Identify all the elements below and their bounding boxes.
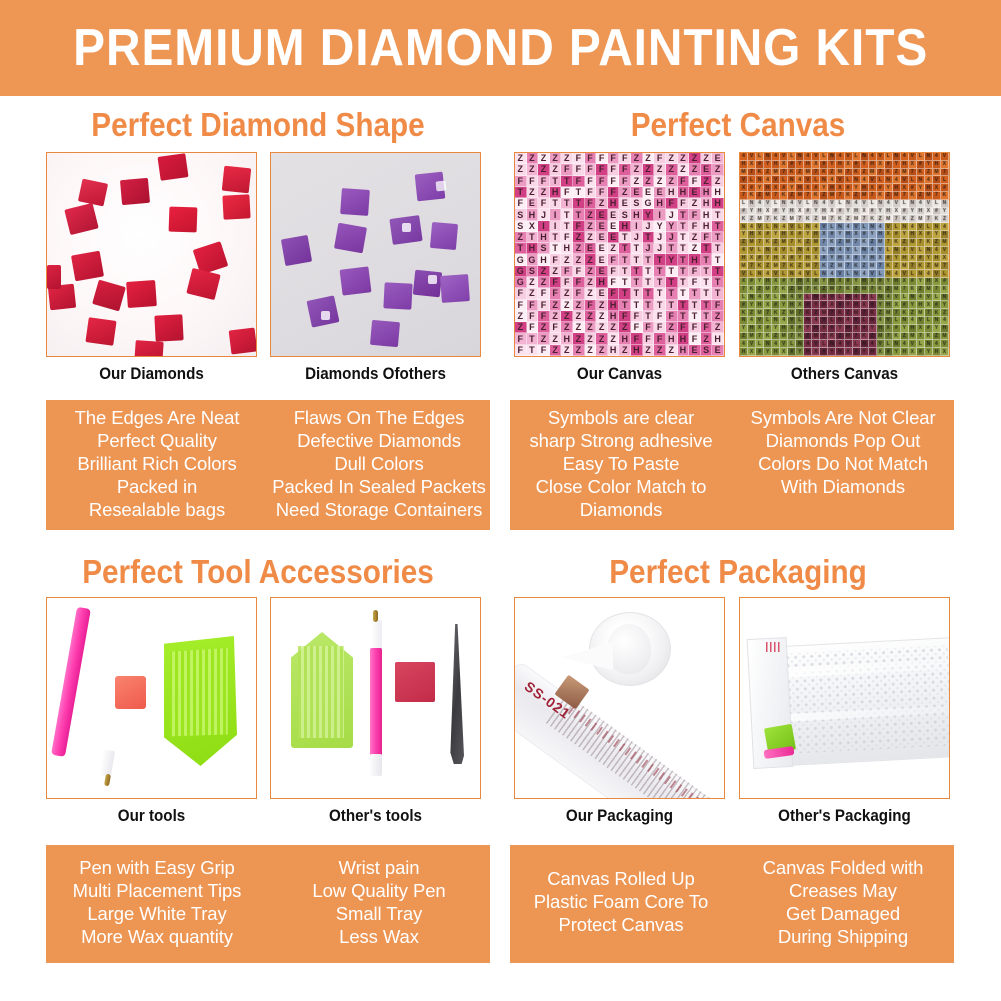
canvas-symbol-cell: Y <box>853 184 861 192</box>
canvas-symbol-cell: X <box>788 231 796 239</box>
canvas-symbol-cell: M <box>820 309 828 317</box>
canvas-symbol-cell: 4 <box>917 200 925 208</box>
canvas-symbol-cell: N <box>869 223 877 231</box>
canvas-symbol-cell: Z <box>796 169 804 177</box>
canvas-symbol-cell: Z <box>869 333 877 341</box>
canvas-symbol-cell: G <box>515 266 527 277</box>
canvas-symbol-cell: Y <box>764 255 772 263</box>
canvas-symbol-cell: H <box>893 278 901 286</box>
canvas-symbol-cell: V <box>925 294 933 302</box>
canvas-symbol-cell: F <box>550 288 562 299</box>
canvas-symbol-cell: M <box>820 215 828 223</box>
canvas-symbol-cell: Z <box>689 198 701 209</box>
canvas-symbol-cell: F <box>515 333 527 344</box>
caption-our-canvas: Our Canvas <box>522 365 716 384</box>
canvas-symbol-cell: Z <box>853 192 861 200</box>
canvas-symbol-cell: H <box>885 208 893 216</box>
canvas-symbol-cell: 7 <box>877 169 885 177</box>
canvas-symbol-cell: K <box>941 192 949 200</box>
canvas-symbol-cell: 7 <box>917 333 925 341</box>
canvas-symbol-cell: Y <box>836 231 844 239</box>
canvas-symbol-cell: V <box>917 317 925 325</box>
caption-our-packaging: Our Packaging <box>522 807 716 826</box>
photo-our-packaging: SS-021 <box>514 597 725 799</box>
canvas-symbol-cell: S <box>527 266 539 277</box>
canvas-symbol-cell: V <box>853 317 861 325</box>
other-tools-art <box>271 598 480 798</box>
canvas-symbol-cell: S <box>515 221 527 232</box>
canvas-symbol-cell: Y <box>917 184 925 192</box>
canvas-symbol-cell: V <box>885 317 893 325</box>
canvas-symbol-cell: F <box>689 209 701 220</box>
canvas-symbol-cell: Z <box>712 322 724 333</box>
canvas-symbol-cell: Y <box>893 348 901 356</box>
canvas-symbol-cell: V <box>820 223 828 231</box>
canvas-symbol-cell: M <box>925 192 933 200</box>
canvas-symbol-cell: K <box>748 286 756 294</box>
canvas-symbol-cell: M <box>740 262 748 270</box>
canvas-symbol-cell: K <box>772 215 780 223</box>
canvas-symbol-cell: Z <box>788 286 796 294</box>
canvas-symbol-cell: M <box>772 262 780 270</box>
canvas-symbol-cell: K <box>764 333 772 341</box>
canvas-symbol-cell: F <box>585 176 597 187</box>
canvas-symbol-cell: 7 <box>788 239 796 247</box>
panel-line: Wrist pain <box>339 856 420 879</box>
canvas-symbol-cell: Z <box>820 286 828 294</box>
canvas-symbol-cell: X <box>812 161 820 169</box>
canvas-symbol-cell: F <box>689 221 701 232</box>
canvas-symbol-cell: F <box>643 333 655 344</box>
canvas-symbol-cell: Y <box>933 325 941 333</box>
canvas-symbol-cell: T <box>654 254 666 265</box>
canvas-symbol-cell: Z <box>585 266 597 277</box>
canvas-symbol-cell: 4 <box>820 200 828 208</box>
canvas-symbol-cell: 7 <box>812 262 820 270</box>
canvas-symbol-cell: F <box>619 164 631 175</box>
canvas-symbol-cell: T <box>550 243 562 254</box>
canvas-symbol-cell: 4 <box>812 223 820 231</box>
canvas-symbol-cell: 7 <box>764 215 772 223</box>
canvas-symbol-cell: L <box>804 200 812 208</box>
canvas-symbol-cell: X <box>869 184 877 192</box>
canvas-symbol-cell: F <box>515 288 527 299</box>
canvas-symbol-cell: Y <box>941 208 949 216</box>
canvas-symbol-cell: # <box>756 161 764 169</box>
canvas-symbol-cell: H <box>901 348 909 356</box>
canvas-symbol-cell: Y <box>869 325 877 333</box>
canvas-symbol-cell: T <box>643 311 655 322</box>
canvas-symbol-cell: F <box>619 153 631 164</box>
canvas-symbol-cell: Z <box>689 232 701 243</box>
canvas-symbol-cell: T <box>689 300 701 311</box>
canvas-symbol-cell: V <box>772 270 780 278</box>
canvas-symbol-cell: T <box>643 288 655 299</box>
panel-canvas-ours: Symbols are clear sharp Strong adhesive … <box>510 400 732 530</box>
canvas-symbol-cell: Z <box>538 322 550 333</box>
canvas-symbol-cell: K <box>788 169 796 177</box>
canvas-symbol-cell: L <box>885 153 893 161</box>
canvas-symbol-cell: V <box>869 176 877 184</box>
canvas-symbol-cell: # <box>893 231 901 239</box>
canvas-symbol-cell: Y <box>796 255 804 263</box>
canvas-symbol-cell: N <box>861 340 869 348</box>
bubble-mailer-art <box>740 598 949 798</box>
canvas-symbol-cell: V <box>756 317 764 325</box>
canvas-symbol-cell: Z <box>712 176 724 187</box>
canvas-symbol-cell: 4 <box>861 270 869 278</box>
canvas-symbol-cell: # <box>820 255 828 263</box>
canvas-symbol-cell: V <box>893 294 901 302</box>
canvas-symbol-cell: N <box>853 176 861 184</box>
canvas-symbol-cell: X <box>909 255 917 263</box>
canvas-symbol-cell: 4 <box>941 223 949 231</box>
canvas-symbol-cell: F <box>515 176 527 187</box>
canvas-symbol-cell: T <box>619 254 631 265</box>
canvas-symbol-cell: T <box>678 277 690 288</box>
canvas-symbol-cell: F <box>561 277 573 288</box>
canvas-symbol-cell: Z <box>780 309 788 317</box>
canvas-symbol-cell: N <box>925 340 933 348</box>
canvas-symbol-cell: F <box>538 300 550 311</box>
canvas-symbol-cell: 4 <box>772 340 780 348</box>
canvas-symbol-cell: Y <box>804 325 812 333</box>
canvas-symbol-cell: Z <box>596 311 608 322</box>
canvas-symbol-cell: H <box>561 333 573 344</box>
canvas-symbol-cell: 7 <box>780 169 788 177</box>
canvas-symbol-cell: 7 <box>933 286 941 294</box>
canvas-symbol-cell: Z <box>515 311 527 322</box>
canvas-symbol-cell: G <box>527 254 539 265</box>
photo-our-canvas: ZZZZZFFFFFZZFZZZZEZZZZFFFFFFZZZZZZEZFFFT… <box>514 152 725 357</box>
canvas-symbol-cell: Z <box>796 262 804 270</box>
canvas-symbol-cell: 7 <box>877 262 885 270</box>
canvas-symbol-cell: # <box>861 231 869 239</box>
canvas-symbol-cell: Z <box>527 187 539 198</box>
canvas-symbol-cell: K <box>804 215 812 223</box>
canvas-symbol-cell: E <box>689 187 701 198</box>
canvas-symbol-cell: 4 <box>788 200 796 208</box>
canvas-symbol-cell: # <box>788 161 796 169</box>
canvas-symbol-cell: N <box>909 294 917 302</box>
canvas-symbol-cell: Z <box>869 239 877 247</box>
canvas-symbol-cell: Y <box>836 325 844 333</box>
panel-line: Less Wax <box>339 925 419 948</box>
rolled-tube-art: SS-021 <box>515 598 724 798</box>
canvas-symbol-cell: T <box>678 243 690 254</box>
canvas-symbol-cell: J <box>654 232 666 243</box>
canvas-symbol-cell: V <box>748 340 756 348</box>
canvas-symbol-cell: 7 <box>740 286 748 294</box>
canvas-symbol-cell: Z <box>893 169 901 177</box>
canvas-symbol-cell: L <box>780 176 788 184</box>
canvas-symbol-cell: M <box>933 169 941 177</box>
canvas-symbol-cell: V <box>901 176 909 184</box>
canvas-symbol-cell: N <box>861 247 869 255</box>
canvas-symbol-cell: Z <box>877 215 885 223</box>
canvas-symbol-cell: N <box>925 247 933 255</box>
canvas-symbol-cell: # <box>917 161 925 169</box>
canvas-symbol-cell: H <box>828 278 836 286</box>
canvas-symbol-cell: S <box>619 209 631 220</box>
canvas-symbol-cell: H <box>796 278 804 286</box>
canvas-symbol-cell: Z <box>701 176 713 187</box>
canvas-symbol-cell: 7 <box>909 169 917 177</box>
canvas-symbol-cell: Z <box>812 309 820 317</box>
canvas-symbol-cell: X <box>901 278 909 286</box>
canvas-symbol-cell: H <box>538 232 550 243</box>
canvas-symbol-cell: Z <box>515 322 527 333</box>
canvas-symbol-cell: 7 <box>893 215 901 223</box>
canvas-symbol-cell: H <box>772 348 780 356</box>
canvas-symbol-cell: # <box>869 208 877 216</box>
canvas-symbol-cell: Z <box>845 309 853 317</box>
canvas-symbol-cell: T <box>678 221 690 232</box>
canvas-symbol-cell: V <box>853 223 861 231</box>
canvas-symbol-cell: H <box>804 255 812 263</box>
canvas-symbol-cell: Z <box>608 322 620 333</box>
canvas-symbol-cell: X <box>812 348 820 356</box>
canvas-symbol-cell: M <box>804 169 812 177</box>
panel-line: Diamonds <box>580 498 663 521</box>
canvas-symbol-cell: L <box>885 247 893 255</box>
canvas-symbol-cell: X <box>828 208 836 216</box>
canvas-symbol-cell: T <box>712 266 724 277</box>
canvas-symbol-cell: # <box>772 301 780 309</box>
canvas-symbol-cell: F <box>608 254 620 265</box>
canvas-symbol-cell: L <box>828 223 836 231</box>
canvas-symbol-cell: J <box>631 232 643 243</box>
canvas-symbol-cell: Y <box>756 278 764 286</box>
canvas-symbol-cell: M <box>788 215 796 223</box>
canvas-symbol-cell: N <box>756 176 764 184</box>
canvas-symbol-cell: X <box>845 161 853 169</box>
canvas-symbol-cell: F <box>678 176 690 187</box>
canvas-symbol-cell: E <box>608 221 620 232</box>
canvas-symbol-cell: T <box>654 300 666 311</box>
canvas-symbol-cell: Z <box>538 333 550 344</box>
canvas-symbol-cell: L <box>853 247 861 255</box>
canvas-symbol-cell: # <box>764 231 772 239</box>
canvas-symbol-cell: L <box>917 247 925 255</box>
canvas-symbol-cell: 4 <box>804 153 812 161</box>
canvas-symbol-cell: 7 <box>796 215 804 223</box>
canvas-symbol-cell: L <box>853 340 861 348</box>
canvas-symbol-cell: T <box>631 288 643 299</box>
canvas-symbol-cell: K <box>836 309 844 317</box>
canvas-symbol-cell: X <box>780 348 788 356</box>
canvas-symbol-cell: F <box>527 322 539 333</box>
panel-line: More Wax quantity <box>81 925 233 948</box>
canvas-symbol-cell: F <box>631 333 643 344</box>
canvas-symbol-cell: X <box>836 278 844 286</box>
canvas-symbol-cell: M <box>933 262 941 270</box>
canvas-symbol-cell: 4 <box>885 200 893 208</box>
canvas-symbol-cell: Z <box>812 215 820 223</box>
canvas-symbol-cell: X <box>925 301 933 309</box>
canvas-symbol-cell: N <box>893 153 901 161</box>
canvas-symbol-cell: K <box>933 309 941 317</box>
canvas-symbol-cell: # <box>933 208 941 216</box>
canvas-symbol-cell: Z <box>643 176 655 187</box>
canvas-symbol-cell: T <box>643 300 655 311</box>
canvas-symbol-cell: N <box>933 317 941 325</box>
canvas-symbol-cell: T <box>573 187 585 198</box>
canvas-symbol-cell: H <box>925 278 933 286</box>
canvas-symbol-cell: Z <box>585 333 597 344</box>
canvas-symbol-cell: K <box>861 333 869 341</box>
canvas-symbol-cell: T <box>561 221 573 232</box>
canvas-symbol-cell: 7 <box>796 309 804 317</box>
canvas-symbol-cell: Y <box>756 184 764 192</box>
panel-line: Multi Placement Tips <box>73 879 242 902</box>
canvas-symbol-cell: # <box>796 325 804 333</box>
canvas-symbol-cell: # <box>740 301 748 309</box>
canvas-symbol-cell: T <box>619 277 631 288</box>
canvas-symbol-cell: M <box>917 309 925 317</box>
canvas-symbol-cell: Z <box>573 333 585 344</box>
canvas-symbol-cell: 7 <box>885 333 893 341</box>
canvas-symbol-cell: T <box>527 345 539 356</box>
canvas-symbol-cell: H <box>780 231 788 239</box>
canvas-symbol-cell: V <box>877 153 885 161</box>
canvas-symbol-cell: H <box>740 348 748 356</box>
canvas-symbol-cell: K <box>772 309 780 317</box>
canvas-symbol-cell: Z <box>631 153 643 164</box>
canvas-symbol-cell: T <box>678 254 690 265</box>
canvas-symbol-cell: Z <box>678 153 690 164</box>
canvas-symbol-cell: F <box>619 176 631 187</box>
canvas-symbol-cell: Y <box>941 301 949 309</box>
canvas-symbol-cell: H <box>845 231 853 239</box>
canvas-symbol-cell: 4 <box>836 247 844 255</box>
canvas-symbol-cell: N <box>836 317 844 325</box>
canvas-symbol-cell: T <box>689 311 701 322</box>
canvas-symbol-cell: F <box>573 288 585 299</box>
canvas-symbol-cell: L <box>917 340 925 348</box>
canvas-symbol-cell: 4 <box>845 223 853 231</box>
canvas-symbol-cell: Z <box>631 176 643 187</box>
canvas-symbol-cell: 7 <box>901 192 909 200</box>
canvas-symbol-cell: F <box>596 164 608 175</box>
canvas-symbol-cell: # <box>941 278 949 286</box>
canvas-symbol-cell: H <box>756 301 764 309</box>
canvas-symbol-cell: Z <box>608 243 620 254</box>
canvas-symbol-cell: H <box>877 231 885 239</box>
canvas-symbol-cell: V <box>925 200 933 208</box>
canvas-symbol-cell: H <box>678 333 690 344</box>
canvas-symbol-cell: Z <box>596 345 608 356</box>
canvas-symbol-cell: Y <box>666 254 678 265</box>
canvas-symbol-cell: Z <box>712 164 724 175</box>
canvas-symbol-cell: F <box>550 322 562 333</box>
canvas-symbol-cell: Z <box>596 300 608 311</box>
canvas-symbol-cell: M <box>756 309 764 317</box>
canvas-symbol-cell: 7 <box>901 286 909 294</box>
canvas-symbol-cell: X <box>740 278 748 286</box>
panel-line: Packed In Sealed Packets <box>272 475 486 498</box>
canvas-symbol-cell: # <box>756 348 764 356</box>
canvas-symbol-cell: H <box>869 161 877 169</box>
canvas-symbol-cell: 4 <box>861 176 869 184</box>
canvas-symbol-cell: J <box>538 209 550 220</box>
canvas-symbol-cell: K <box>917 262 925 270</box>
canvas-symbol-cell: T <box>550 176 562 187</box>
canvas-symbol-cell: Z <box>804 333 812 341</box>
canvas-symbol-cell: 4 <box>740 153 748 161</box>
canvas-symbol-cell: N <box>885 176 893 184</box>
canvas-symbol-cell: 7 <box>845 262 853 270</box>
canvas-symbol-cell: Z <box>917 286 925 294</box>
canvas-symbol-cell: Z <box>925 169 933 177</box>
canvas-symbol-cell: V <box>740 270 748 278</box>
canvas-symbol-cell: K <box>796 333 804 341</box>
canvas-symbol-cell: F <box>573 266 585 277</box>
canvas-symbol-cell: 7 <box>820 239 828 247</box>
caption-other-packaging: Other's Packaging <box>747 807 941 826</box>
canvas-symbol-cell: F <box>550 277 562 288</box>
canvas-symbol-cell: 4 <box>812 317 820 325</box>
canvas-symbol-cell: X <box>917 325 925 333</box>
canvas-symbol-cell: K <box>901 309 909 317</box>
canvas-symbol-cell: Z <box>941 309 949 317</box>
canvas-symbol-cell: H <box>608 198 620 209</box>
canvas-symbol-cell: H <box>772 255 780 263</box>
canvas-symbol-cell: H <box>608 311 620 322</box>
canvas-symbol-cell: 7 <box>804 192 812 200</box>
canvas-symbol-cell: K <box>885 169 893 177</box>
our-tools-art <box>47 598 256 798</box>
canvas-symbol-cell: V <box>901 270 909 278</box>
canvas-symbol-cell: T <box>666 266 678 277</box>
canvas-symbol-cell: Y <box>780 301 788 309</box>
canvas-symbol-cell: 4 <box>756 294 764 302</box>
panel-line: With Diamonds <box>781 475 905 498</box>
canvas-symbol-cell: S <box>631 198 643 209</box>
canvas-symbol-cell: K <box>756 262 764 270</box>
canvas-symbol-cell: 7 <box>861 309 869 317</box>
canvas-symbol-cell: H <box>788 208 796 216</box>
canvas-symbol-cell: Y <box>828 255 836 263</box>
canvas-symbol-cell: H <box>901 161 909 169</box>
canvas-symbol-cell: Z <box>836 239 844 247</box>
canvas-symbol-cell: Y <box>853 278 861 286</box>
canvas-symbol-cell: L <box>820 247 828 255</box>
canvas-symbol-cell: N <box>748 294 756 302</box>
canvas-symbol-cell: 4 <box>885 294 893 302</box>
canvas-symbol-cell: M <box>804 262 812 270</box>
red-diamonds-art <box>47 153 256 356</box>
canvas-symbol-cell: V <box>828 200 836 208</box>
canvas-symbol-cell: T <box>712 254 724 265</box>
canvas-symbol-cell: T <box>701 288 713 299</box>
canvas-symbol-cell: Z <box>861 169 869 177</box>
canvas-symbol-cell: Z <box>756 286 764 294</box>
canvas-symbol-cell: Z <box>573 300 585 311</box>
canvas-symbol-cell: F <box>689 277 701 288</box>
canvas-symbol-cell: H <box>608 345 620 356</box>
canvas-symbol-cell: 7 <box>828 309 836 317</box>
canvas-symbol-cell: S <box>538 243 550 254</box>
canvas-symbol-cell: N <box>772 317 780 325</box>
canvas-symbol-cell: X <box>869 278 877 286</box>
canvas-symbol-cell: V <box>828 294 836 302</box>
canvas-symbol-cell: 7 <box>941 169 949 177</box>
canvas-symbol-cell: F <box>666 198 678 209</box>
canvas-symbol-cell: T <box>701 243 713 254</box>
canvas-symbol-cell: Z <box>561 311 573 322</box>
canvas-symbol-cell: Z <box>666 176 678 187</box>
